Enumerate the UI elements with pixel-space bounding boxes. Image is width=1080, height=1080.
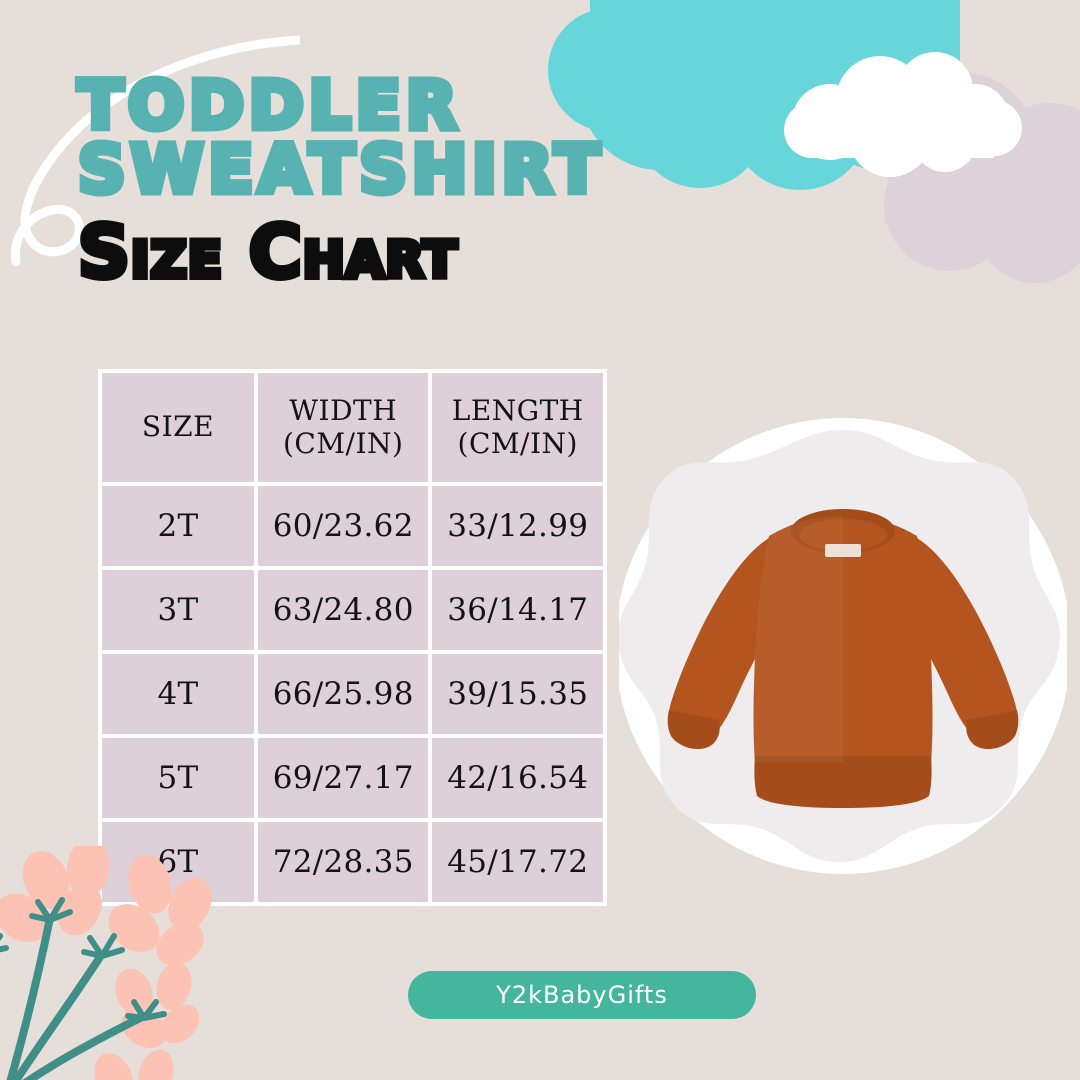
cell-size: 4T [102, 654, 254, 734]
product-photo [619, 418, 1067, 894]
brand-name: Y2kBabyGifts [496, 981, 668, 1009]
column-header-length-line2: (CM/IN) [432, 428, 603, 460]
cell-width: 63/24.80 [258, 570, 429, 650]
cell-length: 36/14.17 [432, 570, 603, 650]
table-row: 4T 66/25.98 39/15.35 [102, 654, 603, 734]
column-header-width: WIDTH (CM/IN) [258, 373, 429, 482]
poster-title-block: TODDLER SWEATSHIRT Size Chart [78, 74, 778, 288]
cell-length: 33/12.99 [432, 486, 603, 566]
column-header-size: SIZE [102, 373, 254, 482]
cloud-white-icon [784, 52, 1022, 177]
table-row: 2T 60/23.62 33/12.99 [102, 486, 603, 566]
column-header-length: LENGTH (CM/IN) [432, 373, 603, 482]
cell-size: 5T [102, 738, 254, 818]
title-line-1: TODDLER [78, 74, 778, 138]
product-image-frame [619, 418, 1067, 894]
column-header-width-line2: (CM/IN) [258, 428, 429, 460]
cell-size: 3T [102, 570, 254, 650]
cell-width: 60/23.62 [258, 486, 429, 566]
table-row: 3T 63/24.80 36/14.17 [102, 570, 603, 650]
size-chart-poster: TODDLER SWEATSHIRT Size Chart SIZE WIDTH… [0, 0, 1080, 1080]
table-header-row: SIZE WIDTH (CM/IN) LENGTH (CM/IN) [102, 373, 603, 482]
size-chart-table: SIZE WIDTH (CM/IN) LENGTH (CM/IN) 2T 60/… [98, 369, 607, 906]
cell-width: 66/25.98 [258, 654, 429, 734]
cell-width: 69/27.17 [258, 738, 429, 818]
cell-size: 2T [102, 486, 254, 566]
cell-length: 39/15.35 [432, 654, 603, 734]
cell-length: 45/17.72 [432, 822, 603, 902]
poster-subtitle: Size Chart [78, 216, 778, 288]
cell-width: 72/28.35 [258, 822, 429, 902]
cell-length: 42/16.54 [432, 738, 603, 818]
flower-sprig-icon [0, 846, 224, 1080]
brand-badge[interactable]: Y2kBabyGifts [408, 971, 756, 1019]
title-line-2: SWEATSHIRT [78, 138, 778, 202]
table-row: 5T 69/27.17 42/16.54 [102, 738, 603, 818]
column-header-size-line1: SIZE [102, 411, 254, 443]
column-header-length-line1: LENGTH [432, 395, 603, 427]
cloud-lavender-icon [882, 72, 1080, 283]
column-header-width-line1: WIDTH [258, 395, 429, 427]
